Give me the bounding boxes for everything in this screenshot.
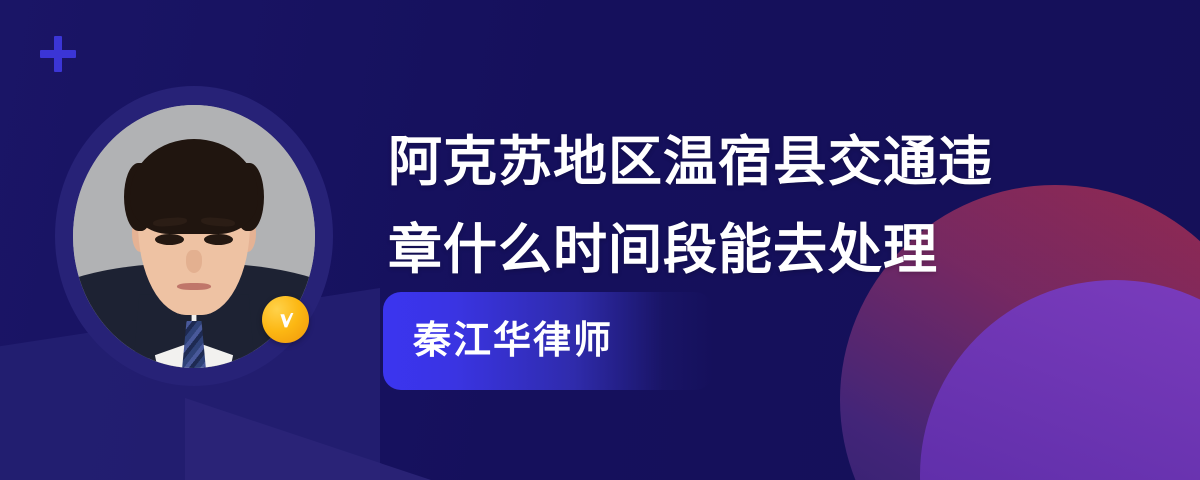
page-title: 阿克苏地区温宿县交通违 章什么时间段能去处理 [388, 118, 1088, 294]
verified-check-icon [262, 296, 309, 343]
text-content: 阿克苏地区温宿县交通违 章什么时间段能去处理 秦江华律师 [388, 118, 1088, 294]
avatar [55, 86, 333, 386]
lawyer-name-badge[interactable]: 秦江华律师 [383, 292, 713, 390]
lawyer-qa-banner: 阿克苏地区温宿县交通违 章什么时间段能去处理 秦江华律师 [0, 0, 1200, 480]
lawyer-name-label: 秦江华律师 [413, 322, 613, 360]
plus-icon [40, 36, 76, 72]
